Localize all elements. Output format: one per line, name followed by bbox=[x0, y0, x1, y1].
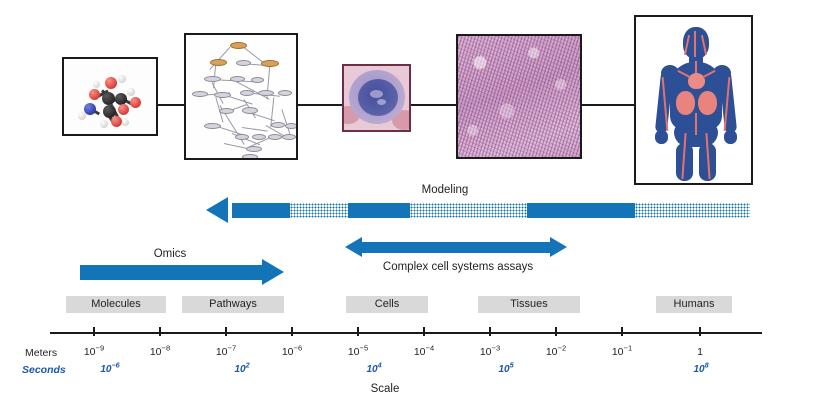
atom-carbon bbox=[102, 92, 115, 105]
network-node bbox=[242, 154, 258, 160]
network-node bbox=[214, 92, 231, 98]
network-node bbox=[210, 59, 227, 66]
human-hand-left bbox=[655, 130, 668, 144]
atom-carbon bbox=[115, 93, 127, 105]
meters-tick-label: 10−6 bbox=[267, 346, 317, 358]
meters-tick-label: 10−3 bbox=[465, 346, 515, 358]
seconds-tick-label: 102 bbox=[217, 364, 267, 375]
seconds-tick-label: 104 bbox=[349, 364, 399, 375]
complex-cell-systems-assays-label: Complex cell systems assays bbox=[358, 261, 558, 273]
omics-label: Omics bbox=[125, 248, 215, 260]
connector-molecule-network bbox=[157, 104, 185, 106]
modeling-segment-solid bbox=[527, 203, 635, 218]
connector-cell-tissue bbox=[410, 104, 457, 106]
seconds-tick-label: 10−6 bbox=[85, 364, 135, 375]
network-node bbox=[219, 108, 234, 114]
axis-tick bbox=[225, 327, 227, 336]
network-node bbox=[285, 123, 298, 129]
axis-tick bbox=[291, 327, 293, 336]
molecule-image bbox=[62, 57, 158, 136]
atom-hydrogen bbox=[93, 81, 100, 88]
meters-tick-label: 10−1 bbox=[597, 346, 647, 358]
atom-oxygen bbox=[105, 77, 117, 89]
network-node bbox=[240, 90, 254, 96]
atom-hydrogen bbox=[100, 120, 108, 128]
axis-tick bbox=[357, 327, 359, 336]
category-cells: Cells bbox=[346, 296, 428, 313]
cell-render bbox=[344, 66, 409, 130]
connector-tissue-human bbox=[581, 104, 635, 106]
human-hand-right bbox=[724, 130, 737, 144]
meters-tick-label: 10−9 bbox=[69, 346, 119, 358]
ccsa-arrow-shaft bbox=[362, 242, 550, 253]
modeling-segment-dotted bbox=[635, 203, 750, 218]
network-node bbox=[242, 107, 258, 114]
axis-tick bbox=[489, 327, 491, 336]
network-render bbox=[186, 35, 296, 158]
connector-network-cell bbox=[297, 104, 343, 106]
network-node bbox=[252, 134, 266, 140]
network-node bbox=[258, 90, 274, 96]
category-tissues: Tissues bbox=[478, 296, 580, 313]
axis-tick bbox=[621, 327, 623, 336]
scale-biology-figure: Modeling Omics Complex cell systems assa… bbox=[0, 0, 825, 400]
human-render bbox=[636, 17, 751, 183]
network-node bbox=[251, 77, 264, 83]
network-node bbox=[192, 91, 208, 97]
scale-axis-line bbox=[50, 332, 762, 334]
seconds-tick-label: 108 bbox=[676, 364, 726, 375]
modeling-segment-dotted bbox=[410, 203, 527, 218]
atom-hydrogen bbox=[122, 119, 129, 126]
ccsa-arrowhead-right bbox=[550, 237, 567, 257]
category-pathways: Pathways bbox=[182, 296, 284, 313]
ccsa-arrowhead-left bbox=[345, 237, 362, 257]
atom-hydrogen bbox=[78, 112, 86, 120]
atom-nitrogen bbox=[84, 103, 96, 115]
category-humans: Humans bbox=[656, 296, 732, 313]
human-organ-right bbox=[698, 91, 717, 115]
atom-oxygen bbox=[118, 104, 129, 115]
seconds-row-label: Seconds bbox=[22, 364, 66, 376]
modeling-segment-solid bbox=[232, 203, 290, 218]
network-node bbox=[204, 76, 221, 82]
meters-tick-label: 10−4 bbox=[399, 346, 449, 358]
category-molecules: Molecules bbox=[66, 296, 166, 313]
atom-oxygen bbox=[111, 116, 122, 127]
scale-caption: Scale bbox=[340, 383, 430, 395]
molecule-render bbox=[64, 59, 156, 134]
atom-hydrogen bbox=[118, 75, 126, 83]
modeling-segment-solid bbox=[348, 203, 410, 218]
human-organ-left bbox=[676, 91, 695, 115]
tissue-image bbox=[456, 34, 582, 159]
network-node bbox=[282, 134, 296, 140]
network-image bbox=[184, 33, 298, 160]
network-node bbox=[230, 76, 245, 82]
network-node bbox=[230, 42, 247, 49]
tissue-render bbox=[458, 36, 580, 157]
cell-image bbox=[342, 64, 411, 132]
seconds-tick-label: 105 bbox=[481, 364, 531, 375]
axis-tick bbox=[159, 327, 161, 336]
meters-tick-label: 10−7 bbox=[201, 346, 251, 358]
meters-tick-label: 1 bbox=[675, 346, 725, 358]
network-node bbox=[236, 60, 251, 66]
network-node bbox=[235, 134, 249, 140]
network-node bbox=[204, 123, 221, 129]
network-node bbox=[261, 60, 279, 67]
atom-oxygen bbox=[130, 97, 141, 108]
atom-oxygen bbox=[89, 89, 100, 100]
network-node bbox=[268, 134, 282, 140]
axis-tick bbox=[423, 327, 425, 336]
omics-arrowhead bbox=[262, 259, 284, 285]
meters-row-label: Meters bbox=[25, 347, 57, 359]
network-node bbox=[246, 146, 262, 152]
meters-tick-label: 10−8 bbox=[135, 346, 185, 358]
meters-tick-label: 10−5 bbox=[333, 346, 383, 358]
atom-hydrogen bbox=[127, 88, 135, 96]
modeling-segment-dotted bbox=[290, 203, 348, 218]
axis-tick bbox=[555, 327, 557, 336]
axis-tick bbox=[93, 327, 95, 336]
modeling-label: Modeling bbox=[400, 184, 490, 196]
meters-tick-label: 10−2 bbox=[531, 346, 581, 358]
modeling-arrowhead bbox=[206, 197, 228, 223]
human-image bbox=[634, 15, 753, 185]
network-node bbox=[278, 90, 292, 96]
axis-tick bbox=[699, 327, 701, 336]
omics-arrow-shaft bbox=[80, 265, 262, 280]
network-node bbox=[271, 122, 285, 128]
